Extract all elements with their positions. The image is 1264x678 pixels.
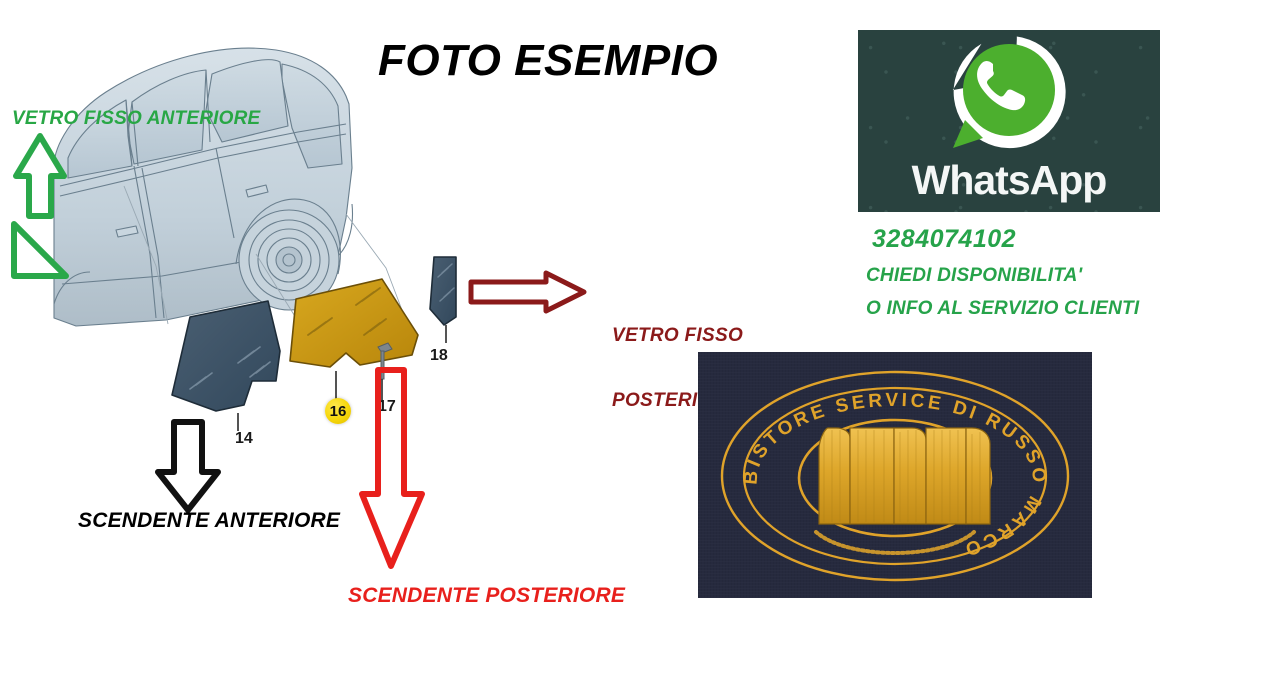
screenshot-root: 14 16 17 18 FOTO ESEMPIO VETRO FISSO ANT… [0,0,1264,678]
darkred-right-arrow-icon [466,268,590,316]
part-number-16: 16 [325,398,351,424]
red-down-arrow-icon [358,366,430,572]
green-triangle-marker-icon [8,218,72,282]
whatsapp-icon [858,30,1160,170]
label-vfp-line1: VETRO FISSO [612,325,743,347]
whatsapp-wordmark: WhatsApp [858,157,1160,204]
phone-number[interactable]: 3284074102 [872,225,1016,254]
part-number-18: 18 [430,347,448,365]
shop-logo: MRICAMBISTORE SERVICE DI RUSSO MARCO [698,352,1092,598]
page-title: FOTO ESEMPIO [378,36,798,86]
label-scendente-anteriore: SCENDENTE ANTERIORE [78,509,340,533]
contact-line-1: CHIEDI DISPONIBILITA' [866,265,1082,287]
black-down-arrow-icon [152,418,226,514]
part-number-14: 14 [235,430,253,448]
shop-logo-graphic: MRICAMBISTORE SERVICE DI RUSSO MARCO [698,352,1092,598]
label-scendente-posteriore: SCENDENTE POSTERIORE [348,584,625,608]
contact-line-2: O INFO AL SERVIZIO CLIENTI [866,298,1139,320]
whatsapp-banner: WhatsApp [858,30,1160,212]
label-vetro-fisso-anteriore: VETRO FISSO ANTERIORE [12,108,260,130]
